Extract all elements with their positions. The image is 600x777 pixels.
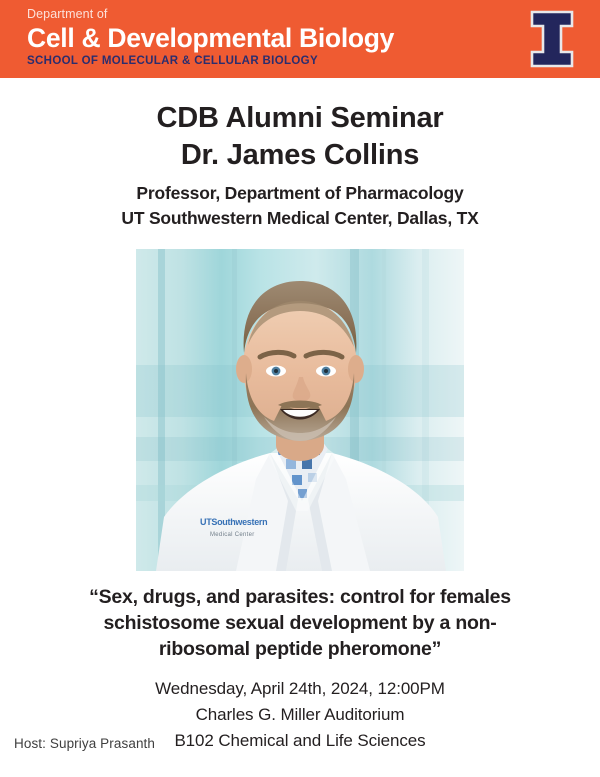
page-title: CDB Alumni Seminar bbox=[0, 100, 600, 136]
department-banner: Department of Cell & Developmental Biolo… bbox=[0, 0, 600, 78]
host-label: Host: Supriya Prasanth bbox=[14, 736, 155, 751]
event-venue: Charles G. Miller Auditorium bbox=[0, 702, 600, 728]
speaker-name: Dr. James Collins bbox=[0, 136, 600, 174]
talk-title-line-3: ribosomal peptide pheromone” bbox=[159, 638, 441, 660]
department-of-label: Department of bbox=[27, 6, 394, 22]
illinois-block-i-logo-icon bbox=[530, 10, 574, 68]
speaker-photo: UTSouthwestern Medical Center bbox=[136, 249, 464, 571]
poster-body: CDB Alumni Seminar Dr. James Collins Pro… bbox=[0, 100, 600, 754]
speaker-photo-container: UTSouthwestern Medical Center bbox=[0, 249, 600, 571]
speaker-affiliation-line-1: Professor, Department of Pharmacology bbox=[0, 181, 600, 206]
department-name: Cell & Developmental Biology bbox=[27, 23, 394, 53]
talk-title-line-2: schistosome sexual development by a non- bbox=[103, 612, 496, 634]
talk-title: “Sex, drugs, and parasites: control for … bbox=[0, 584, 600, 662]
school-name: SCHOOL OF MOLECULAR & CELLULAR BIOLOGY bbox=[27, 54, 394, 69]
event-datetime: Wednesday, April 24th, 2024, 12:00PM bbox=[0, 676, 600, 702]
banner-text-block: Department of Cell & Developmental Biolo… bbox=[27, 6, 394, 69]
svg-text:UTSouthwestern: UTSouthwestern bbox=[200, 517, 267, 527]
speaker-affiliation-line-2: UT Southwestern Medical Center, Dallas, … bbox=[0, 206, 600, 231]
talk-title-line-1: “Sex, drugs, and parasites: control for … bbox=[89, 586, 511, 608]
svg-text:Medical Center: Medical Center bbox=[210, 532, 255, 538]
